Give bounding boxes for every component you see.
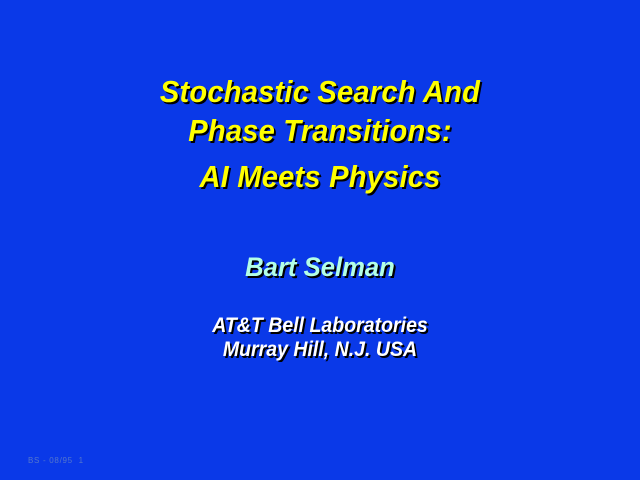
title-line-3: AI Meets Physics bbox=[19, 157, 621, 196]
author-name: Bart Selman bbox=[16, 252, 624, 283]
title-line-1: Stochastic Search And bbox=[19, 72, 621, 111]
affiliation-section: AT&T Bell Laboratories Murray Hill, N.J.… bbox=[0, 314, 640, 362]
affiliation-location: Murray Hill, N.J. USA bbox=[22, 338, 617, 362]
title-line-2: Phase Transitions: bbox=[19, 111, 621, 150]
author-section: Bart Selman bbox=[0, 252, 640, 283]
slide-title: Stochastic Search And Phase Transitions:… bbox=[0, 72, 640, 196]
affiliation-organization: AT&T Bell Laboratories bbox=[22, 314, 617, 338]
slide-footer: BS - 08/95 1 bbox=[28, 456, 84, 466]
presentation-slide: Stochastic Search And Phase Transitions:… bbox=[0, 0, 640, 480]
